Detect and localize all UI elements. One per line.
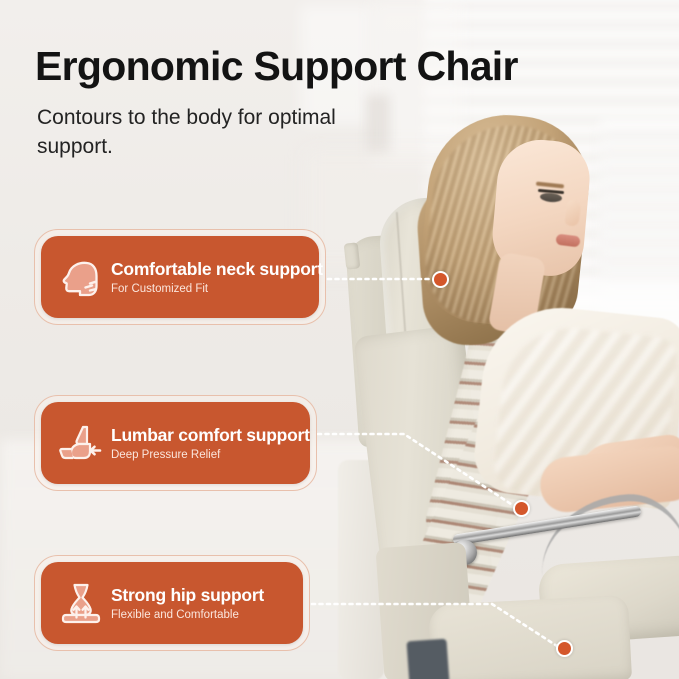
feature-card-neck[interactable]: Comfortable neck support For Customized … [41, 236, 319, 318]
chair-headrest-tab [344, 242, 361, 269]
head-neck-icon [55, 251, 107, 303]
feature-card-hip[interactable]: Strong hip support Flexible and Comforta… [41, 562, 303, 644]
seated-lumbar-icon [55, 417, 107, 469]
feature-card-hip-text: Strong hip support Flexible and Comforta… [111, 585, 264, 620]
hip-pelvis-icon [55, 577, 107, 629]
chair-seat-cushion-lower [428, 595, 632, 679]
feature-title-neck: Comfortable neck support [111, 259, 323, 279]
feature-title-lumbar: Lumbar comfort support [111, 425, 310, 445]
chair-base-accent [406, 639, 449, 679]
feature-subtitle-lumbar: Deep Pressure Relief [111, 449, 310, 461]
feature-card-lumbar-body[interactable]: Lumbar comfort support Deep Pressure Rel… [41, 402, 310, 484]
feature-subtitle-neck: For Customized Fit [111, 283, 323, 295]
feature-card-lumbar[interactable]: Lumbar comfort support Deep Pressure Rel… [41, 402, 310, 484]
feature-subtitle-hip: Flexible and Comfortable [111, 609, 264, 621]
feature-title-hip: Strong hip support [111, 585, 264, 605]
product-feature-infographic: Comfortable neck support For Customized … [0, 0, 679, 679]
feature-card-neck-body[interactable]: Comfortable neck support For Customized … [41, 236, 319, 318]
feature-card-neck-text: Comfortable neck support For Customized … [111, 259, 323, 294]
feature-card-hip-body[interactable]: Strong hip support Flexible and Comforta… [41, 562, 303, 644]
page-subtitle: Contours to the body for optimal support… [37, 104, 377, 162]
feature-card-lumbar-text: Lumbar comfort support Deep Pressure Rel… [111, 425, 310, 460]
page-title: Ergonomic Support Chair [35, 44, 518, 89]
